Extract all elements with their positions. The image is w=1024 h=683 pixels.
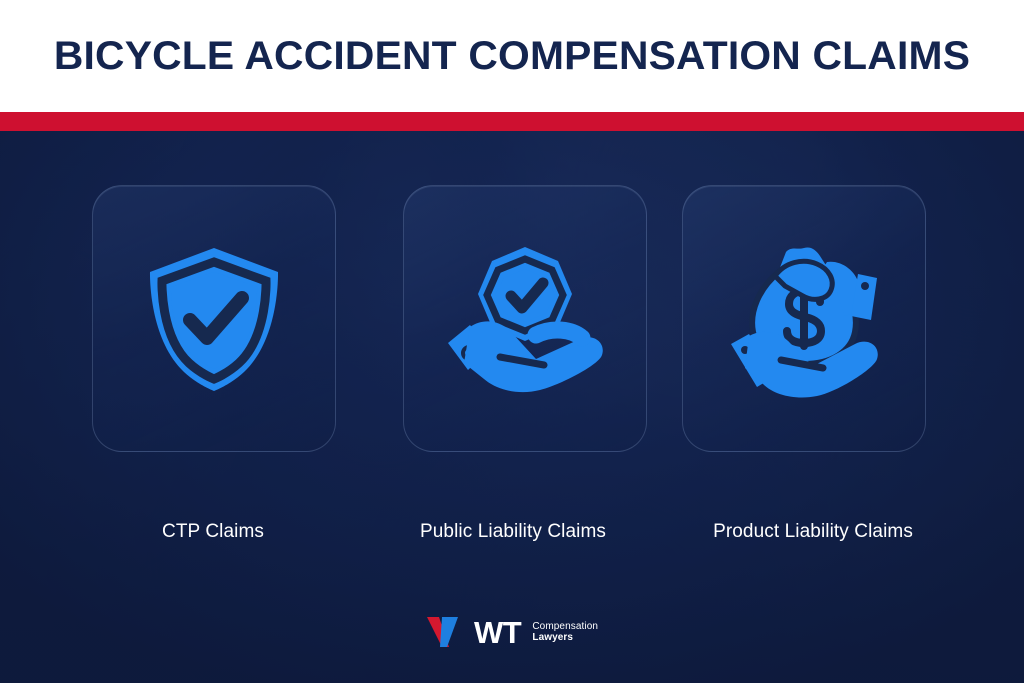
wt-chevron-mark-icon: [426, 615, 466, 649]
card-label-product-liability-claims: Product Liability Claims: [692, 521, 934, 543]
card-public-liability-claims[interactable]: [403, 185, 647, 452]
card-label-ctp-claims: CTP Claims: [92, 521, 334, 543]
card-ctp-claims[interactable]: [92, 185, 336, 452]
header-red-rule: [0, 112, 1024, 131]
infographic-poster: BICYCLE ACCIDENT COMPENSATION CLAIMS: [0, 0, 1024, 683]
page-title: BICYCLE ACCIDENT COMPENSATION CLAIMS: [0, 33, 1024, 79]
brand-tagline-line-2: Lawyers: [532, 632, 598, 643]
brand-logo[interactable]: WT Compensation Lawyers: [0, 608, 1024, 656]
hands-holding-money-bag-icon: [683, 186, 925, 451]
card-label-public-liability-claims: Public Liability Claims: [392, 521, 634, 543]
header-band: BICYCLE ACCIDENT COMPENSATION CLAIMS: [0, 0, 1024, 112]
brand-tagline: Compensation Lawyers: [532, 621, 598, 643]
brand-wordmark: WT: [474, 617, 521, 648]
hand-holding-shield-icon: [404, 186, 646, 451]
brand-logo-inner: WT Compensation Lawyers: [426, 615, 598, 649]
shield-check-icon: [93, 186, 335, 451]
brand-tagline-line-1: Compensation: [532, 621, 598, 632]
card-product-liability-claims[interactable]: [682, 185, 926, 452]
claim-type-card-grid: [0, 131, 1024, 683]
